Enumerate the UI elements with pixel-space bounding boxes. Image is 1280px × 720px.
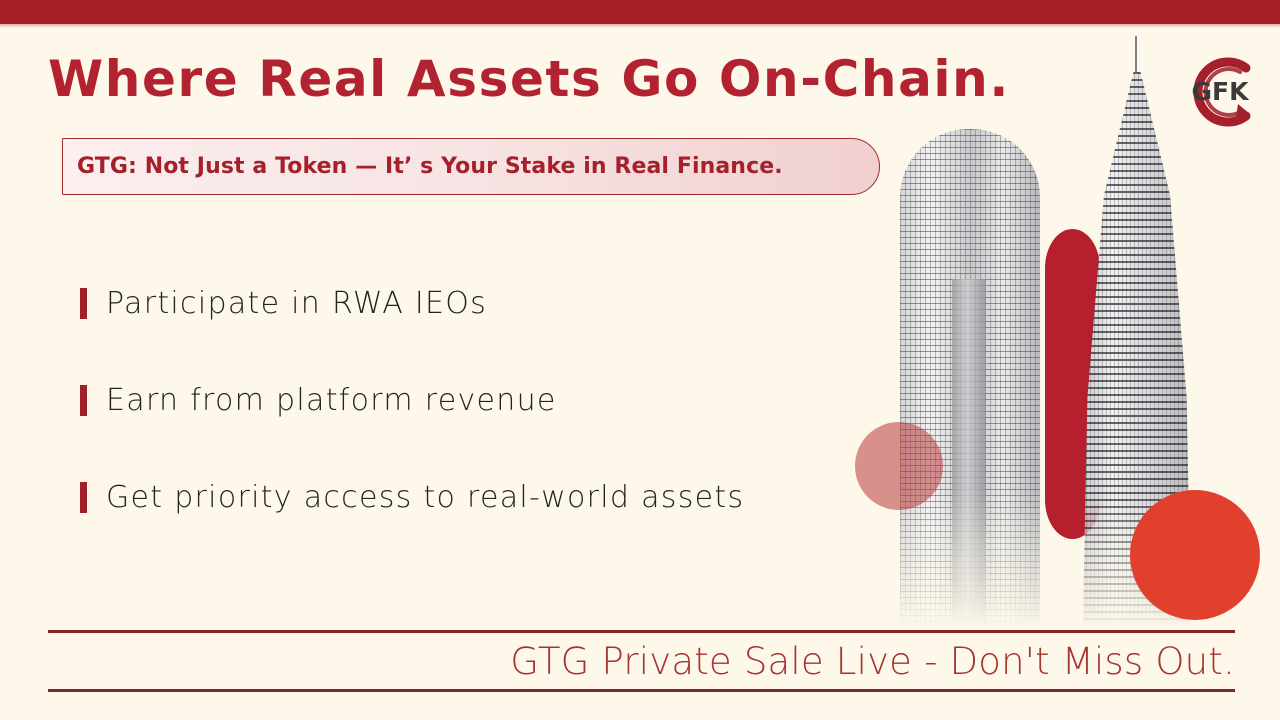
list-item: Participate in RWA IEOs [80,255,840,352]
building-right-antenna [1135,36,1137,76]
list-item: Earn from platform revenue [80,352,840,449]
list-item-label: Participate in RWA IEOs [106,286,487,321]
footer-rule-top [48,630,1235,633]
logo-wordmark: GFK [1192,77,1251,106]
bullet-marker-icon [80,482,87,513]
bullet-marker-icon [80,385,87,416]
slide-canvas: Where Real Assets Go On-Chain. GTG: Not … [0,0,1280,720]
gfk-logo: GFK [1176,48,1264,136]
gfk-logo-icon: GFK [1176,48,1264,136]
decorative-circle-bright-red [1130,490,1260,620]
decorative-circle-pink [855,422,943,510]
building-left-core [952,279,986,624]
benefits-list: Participate in RWA IEOs Earn from platfo… [80,255,840,546]
list-item-label: Earn from platform revenue [106,383,557,418]
bullet-marker-icon [80,288,87,319]
list-item-label: Get priority access to real-world assets [106,480,744,515]
call-to-action-text: GTG Private Sale Live - Don't Miss Out. [510,640,1235,683]
subtitle-banner: GTG: Not Just a Token — It’ s Your Stake… [62,138,880,195]
subtitle-text: GTG: Not Just a Token — It’ s Your Stake… [63,154,783,179]
call-to-action: GTG Private Sale Live - Don't Miss Out. [48,635,1235,687]
building-left [900,129,1040,624]
footer-rule-bottom [48,689,1235,692]
page-title: Where Real Assets Go On-Chain. [48,50,1010,108]
list-item: Get priority access to real-world assets [80,449,840,546]
top-accent-bar [0,0,1280,24]
